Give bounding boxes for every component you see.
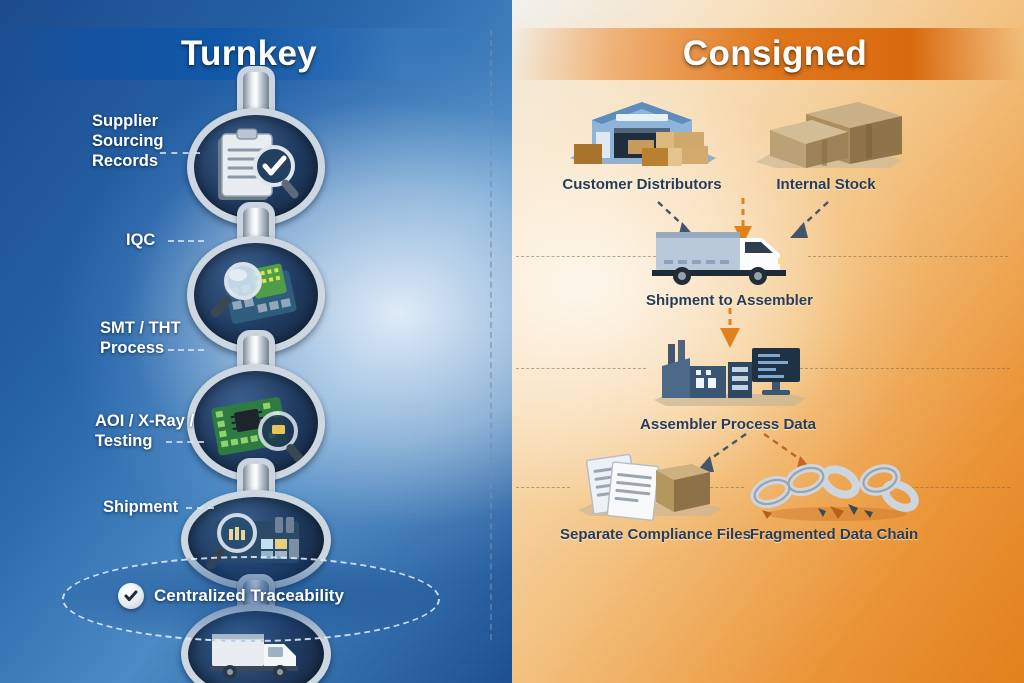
right-label-fragmented-data-chain: Fragmented Data Chain	[744, 526, 924, 543]
right-node-assembler-process-data: Assembler Process Data	[640, 340, 816, 433]
leader-line-iqc	[168, 240, 204, 242]
guide-dash-left-factory	[516, 368, 646, 369]
documents-box-icon	[560, 452, 738, 522]
stage-label-supplier-sourcing: Supplier Sourcing Records	[92, 111, 164, 171]
factory-monitor-icon	[640, 340, 816, 412]
broken-chain-icon	[744, 452, 924, 522]
right-label-customer-distributors: Customer Distributors	[556, 176, 728, 193]
right-banner: Consigned	[512, 28, 1024, 80]
check-circle-icon	[118, 583, 144, 609]
right-banner-title: Consigned	[683, 34, 867, 74]
center-divider	[490, 30, 492, 640]
leader-line-aoi-xray-testing	[166, 441, 204, 443]
cardboard-boxes-icon	[740, 96, 912, 172]
leader-line-smt-tht	[168, 349, 204, 351]
right-node-shipment-to-assembler: Shipment to Assembler	[646, 222, 806, 309]
stage-label-shipment: Shipment	[103, 497, 178, 517]
guide-dash-right-factory	[800, 368, 1010, 369]
right-node-customer-distributors: Customer Distributors	[556, 96, 728, 193]
right-node-fragmented-data-chain: Fragmented Data Chain	[744, 452, 924, 543]
stage-label-aoi-xray-testing: AOI / X-Ray / Testing	[95, 411, 194, 451]
right-node-separate-compliance-files: Separate Compliance Files	[560, 452, 738, 543]
stage-label-iqc: IQC	[126, 230, 155, 250]
right-node-internal-stock: Internal Stock	[740, 96, 912, 193]
leader-line-shipment	[186, 507, 214, 509]
right-label-assembler-process-data: Assembler Process Data	[640, 416, 816, 433]
guide-dash-left-truck	[516, 256, 656, 257]
warehouse-boxes-icon	[556, 96, 728, 172]
right-label-internal-stock: Internal Stock	[740, 176, 912, 193]
guide-dash-right-truck	[808, 256, 1008, 257]
centralized-traceability-label: Centralized Traceability	[154, 586, 344, 606]
delivery-truck-icon	[646, 222, 806, 288]
infographic-canvas: Turnkey Consigned	[0, 0, 1024, 683]
centralized-traceability-row: Centralized Traceability	[118, 583, 344, 609]
right-label-shipment-to-assembler: Shipment to Assembler	[646, 292, 806, 309]
turnkey-chain-column	[186, 84, 326, 584]
right-label-separate-compliance-files: Separate Compliance Files	[560, 526, 738, 543]
leader-line-supplier-sourcing	[160, 152, 200, 154]
stage-label-smt-tht: SMT / THT Process	[100, 318, 181, 358]
